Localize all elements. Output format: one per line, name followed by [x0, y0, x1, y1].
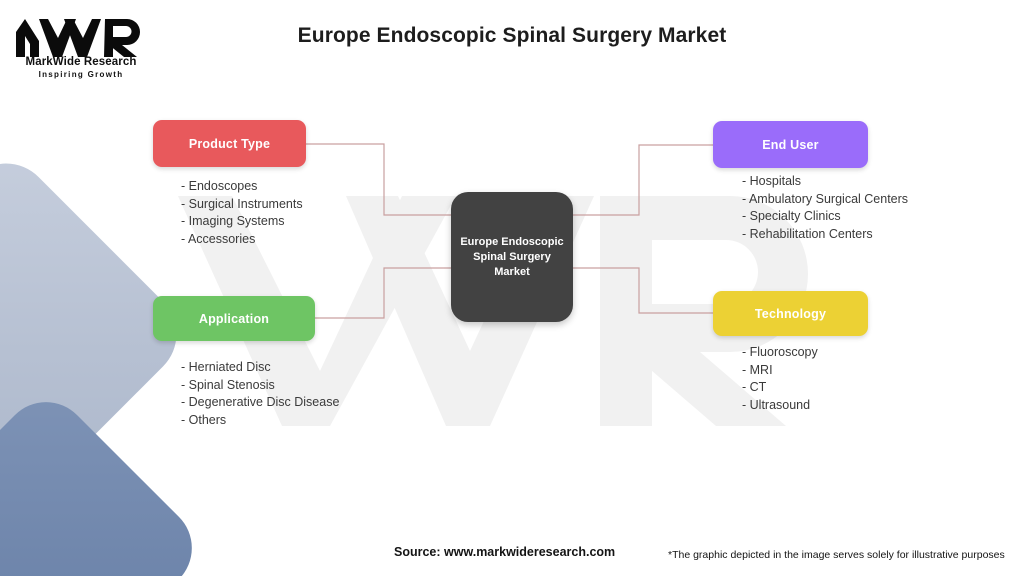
connector-technology [573, 268, 713, 313]
list-item: - Ultrasound [742, 397, 818, 415]
category-label-end-user: End User [762, 138, 818, 152]
list-item: - MRI [742, 362, 818, 380]
category-list-technology: - Fluoroscopy - MRI - CT - Ultrasound [742, 344, 818, 414]
list-item: - Rehabilitation Centers [742, 226, 908, 244]
list-item: - Herniated Disc [181, 359, 339, 377]
connector-application [315, 268, 451, 318]
connector-end-user [573, 145, 713, 215]
category-label-product-type: Product Type [189, 137, 270, 151]
list-item: - Surgical Instruments [181, 196, 303, 214]
slide-canvas: MarkWide Research Inspiring Growth Europ… [0, 0, 1024, 576]
list-item: - Degenerative Disc Disease [181, 394, 339, 412]
disclaimer-note: *The graphic depicted in the image serve… [668, 549, 1005, 561]
category-list-end-user: - Hospitals - Ambulatory Surgical Center… [742, 173, 908, 243]
center-node[interactable]: Europe Endoscopic Spinal Surgery Market [451, 192, 573, 322]
category-list-product-type: - Endoscopes - Surgical Instruments - Im… [181, 178, 303, 248]
list-item: - Fluoroscopy [742, 344, 818, 362]
category-box-application[interactable]: Application [153, 296, 315, 341]
connector-product-type [306, 144, 451, 215]
list-item: - Accessories [181, 231, 303, 249]
source-note: Source: www.markwideresearch.com [394, 545, 615, 559]
list-item: - Endoscopes [181, 178, 303, 196]
list-item: - Imaging Systems [181, 213, 303, 231]
center-node-label: Europe Endoscopic Spinal Surgery Market [459, 235, 565, 280]
category-box-end-user[interactable]: End User [713, 121, 868, 168]
list-item: - Hospitals [742, 173, 908, 191]
category-label-application: Application [199, 312, 269, 326]
category-box-technology[interactable]: Technology [713, 291, 868, 336]
category-list-application: - Herniated Disc - Spinal Stenosis - Deg… [181, 359, 339, 429]
category-label-technology: Technology [755, 307, 826, 321]
category-box-product-type[interactable]: Product Type [153, 120, 306, 167]
list-item: - Others [181, 412, 339, 430]
list-item: - CT [742, 379, 818, 397]
list-item: - Specialty Clinics [742, 208, 908, 226]
list-item: - Ambulatory Surgical Centers [742, 191, 908, 209]
list-item: - Spinal Stenosis [181, 377, 339, 395]
